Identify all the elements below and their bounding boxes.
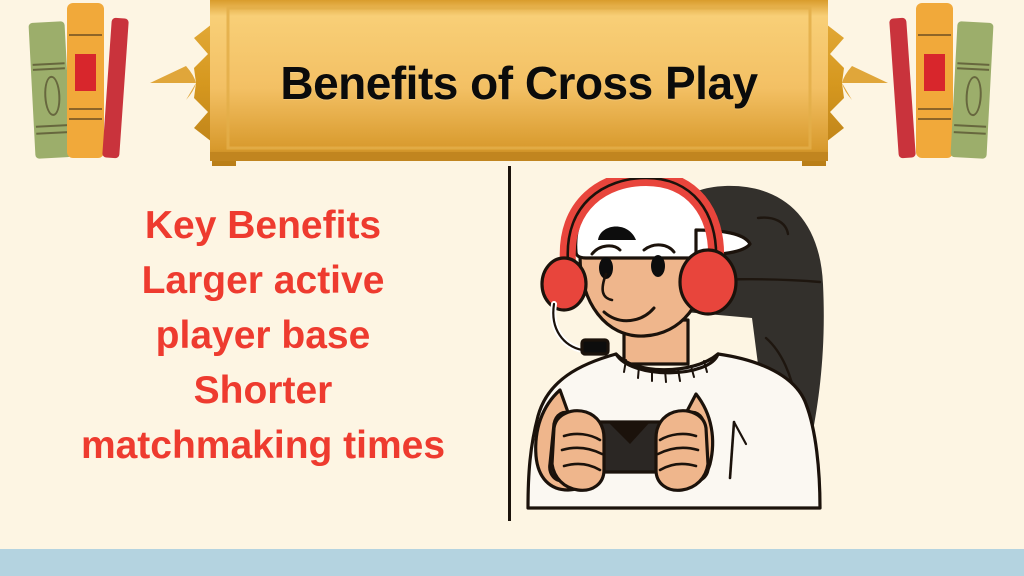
book-line — [69, 34, 102, 36]
green-book — [950, 21, 993, 159]
benefits-line: player base — [28, 308, 498, 363]
orange-book — [916, 3, 953, 158]
book-label — [924, 54, 945, 91]
headphone-ear-cup-right — [680, 250, 736, 314]
benefits-line: Larger active — [28, 253, 498, 308]
title-banner: Benefits of Cross Play — [150, 0, 888, 166]
book-line — [957, 62, 989, 66]
book-line — [954, 124, 986, 128]
book-label — [75, 54, 96, 91]
green-book — [28, 21, 71, 159]
gamer-with-controller-illustration — [520, 178, 900, 526]
bottom-accent-bar — [0, 549, 1024, 576]
book-oval-emblem — [44, 76, 62, 116]
headphone-ear-cup-left — [542, 258, 586, 310]
book-oval-emblem — [965, 76, 983, 116]
book-line — [36, 124, 68, 128]
book-line — [918, 34, 951, 36]
benefits-text-block: Key Benefits Larger active player base S… — [28, 198, 498, 473]
header: Benefits of Cross Play — [0, 0, 1024, 165]
book-line — [33, 67, 65, 71]
book-line — [33, 62, 65, 66]
stack-of-books-right — [880, 0, 1024, 165]
vertical-divider — [508, 166, 511, 521]
microphone-tip — [582, 340, 608, 354]
benefits-line: Shorter — [28, 363, 498, 418]
benefits-line: matchmaking times — [28, 418, 498, 473]
page-title: Benefits of Cross Play — [150, 0, 888, 166]
book-line — [69, 118, 102, 120]
book-line — [954, 131, 986, 135]
red-book — [102, 18, 129, 159]
book-line — [918, 108, 951, 110]
eye-right — [651, 255, 665, 277]
book-line — [957, 67, 989, 71]
book-line — [918, 118, 951, 120]
slide-canvas: Benefits of Cross Play Key Benefits La — [0, 0, 1024, 576]
benefits-line: Key Benefits — [28, 198, 498, 253]
book-line — [69, 108, 102, 110]
orange-book — [67, 3, 104, 158]
red-book — [889, 18, 916, 159]
book-line — [36, 131, 68, 135]
